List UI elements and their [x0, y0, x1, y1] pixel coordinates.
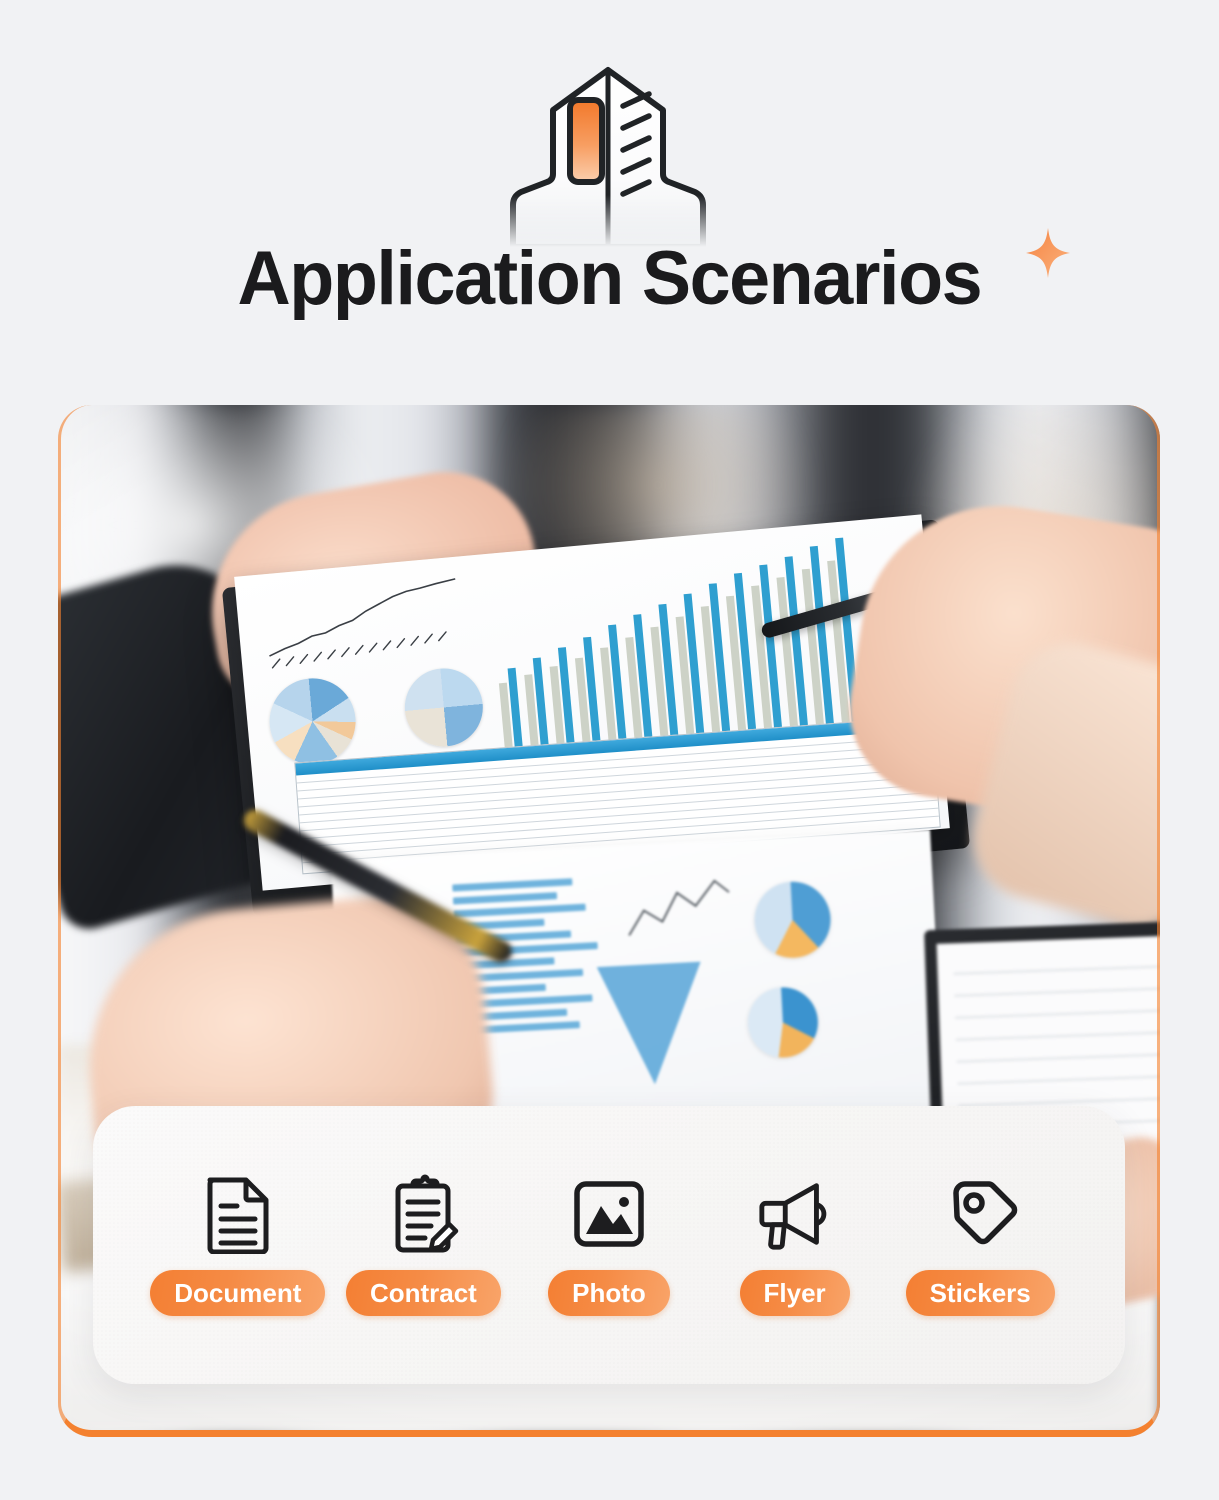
category-label-document[interactable]: Document: [150, 1270, 325, 1316]
foreground-funnel-chart: [597, 962, 707, 1087]
page-title: Application Scenarios: [238, 236, 982, 322]
category-item-photo[interactable]: Photo: [516, 1174, 702, 1316]
document-page-icon: [199, 1174, 277, 1254]
price-tag-icon: [941, 1174, 1019, 1254]
report-pie-chart-2: [401, 665, 486, 750]
building-skyscraper-icon: [497, 62, 719, 247]
category-label-flyer[interactable]: Flyer: [740, 1270, 850, 1316]
category-label-contract[interactable]: Contract: [346, 1270, 501, 1316]
foreground-line-chart: [622, 870, 736, 946]
foreground-pie-chart-2: [746, 986, 820, 1060]
category-list: Document Contract: [93, 1106, 1125, 1384]
image-picture-icon: [570, 1174, 648, 1254]
report-line-chart: [259, 573, 465, 671]
foreground-pie-chart-1: [753, 880, 833, 960]
category-item-contract[interactable]: Contract: [331, 1174, 517, 1316]
category-card: Document Contract: [93, 1106, 1125, 1384]
report-pie-chart-1: [266, 675, 359, 768]
megaphone-icon: [756, 1174, 834, 1254]
category-label-stickers[interactable]: Stickers: [906, 1270, 1055, 1316]
category-label-photo[interactable]: Photo: [548, 1270, 670, 1316]
page-header: Application Scenarios: [0, 0, 1219, 390]
category-item-stickers[interactable]: Stickers: [887, 1174, 1073, 1316]
sparkle-star-icon: [1026, 228, 1070, 278]
category-item-flyer[interactable]: Flyer: [702, 1174, 888, 1316]
category-item-document[interactable]: Document: [145, 1174, 331, 1316]
clipboard-pen-icon: [384, 1174, 462, 1254]
